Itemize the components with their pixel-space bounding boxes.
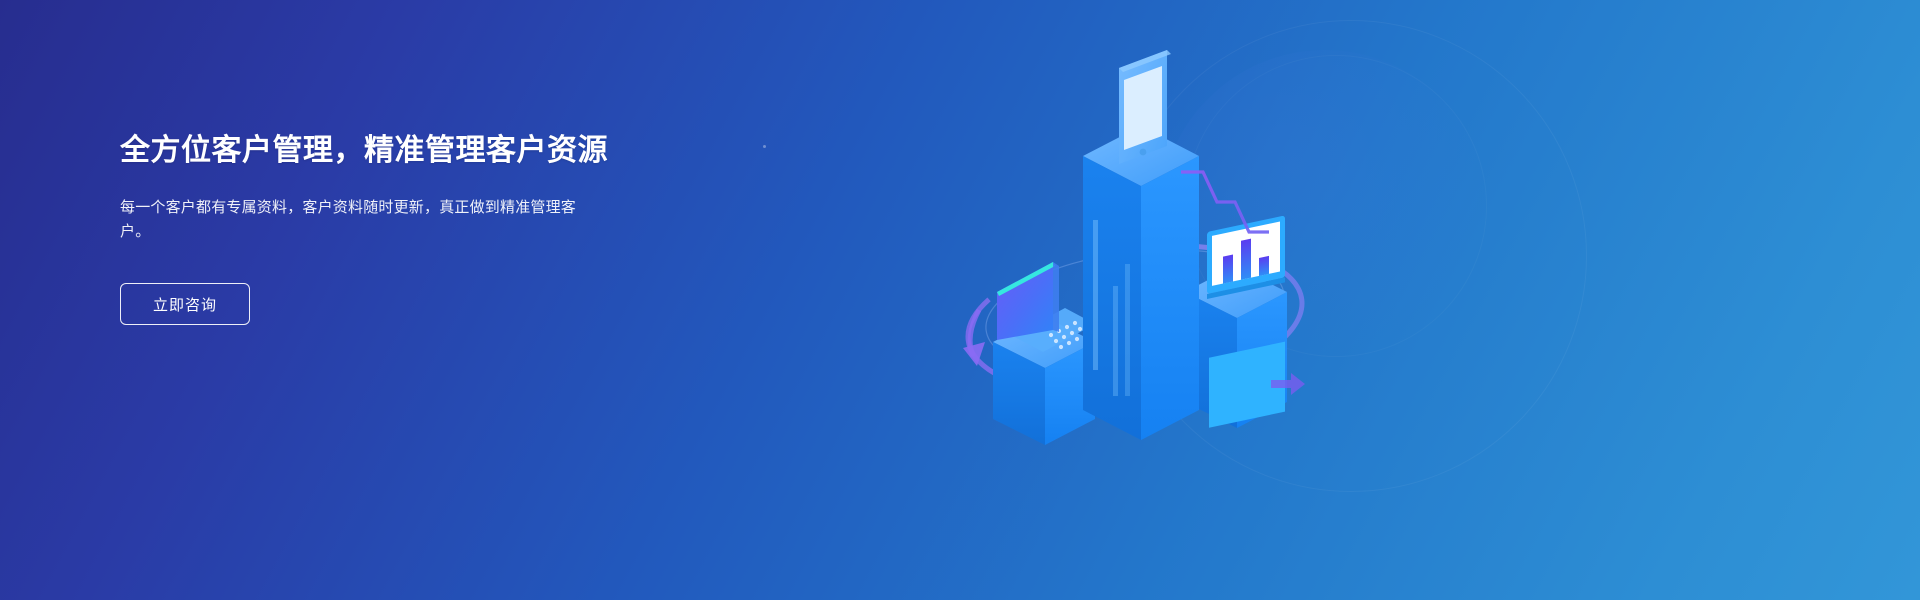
- consult-now-button[interactable]: 立即咨询: [120, 283, 250, 325]
- hero-illustration: [935, 40, 1365, 470]
- hero-copy: 全方位客户管理，精准管理客户资源 每一个客户都有专属资料，客户资料随时更新，真正…: [120, 132, 740, 325]
- background-speck: [763, 145, 766, 148]
- tablet-icon: [1119, 50, 1171, 164]
- hero-subtitle: 每一个客户都有专属资料，客户资料随时更新，真正做到精准管理客户。: [120, 196, 600, 245]
- hero-banner: 全方位客户管理，精准管理客户资源 每一个客户都有专属资料，客户资料随时更新，真正…: [0, 0, 1920, 600]
- page-title: 全方位客户管理，精准管理客户资源: [120, 132, 740, 170]
